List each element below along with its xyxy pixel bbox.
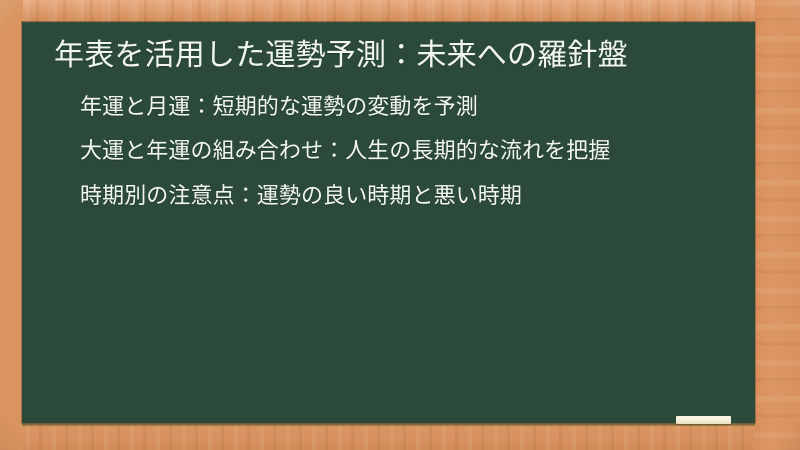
bullet-item: 時期別の注意点：運勢の良い時期と悪い時期 [80, 181, 703, 210]
chalkboard-slide: 年表を活用した運勢予測：未来への羅針盤 年運と月運：短期的な運勢の変動を予測 大… [0, 0, 800, 450]
board-ledge-line [22, 423, 755, 426]
slide-title: 年表を活用した運勢予測：未来への羅針盤 [40, 36, 729, 76]
bullet-item: 年運と月運：短期的な運勢の変動を予測 [80, 92, 703, 121]
frame-left-rail [0, 0, 23, 450]
chalkboard-content: 年表を活用した運勢予測：未来への羅針盤 年運と月運：短期的な運勢の変動を予測 大… [22, 22, 755, 423]
bullet-item: 大運と年運の組み合わせ：人生の長期的な流れを把握 [80, 136, 703, 165]
frame-top-rail [0, 0, 800, 23]
chalkboard-surface: 年表を活用した運勢予測：未来への羅針盤 年運と月運：短期的な運勢の変動を予測 大… [22, 22, 755, 423]
bullet-list: 年運と月運：短期的な運勢の変動を予測 大運と年運の組み合わせ：人生の長期的な流れ… [40, 92, 729, 210]
chalk-stick [676, 416, 731, 424]
frame-bottom-rail [0, 423, 800, 450]
frame-right-rail [755, 0, 800, 450]
